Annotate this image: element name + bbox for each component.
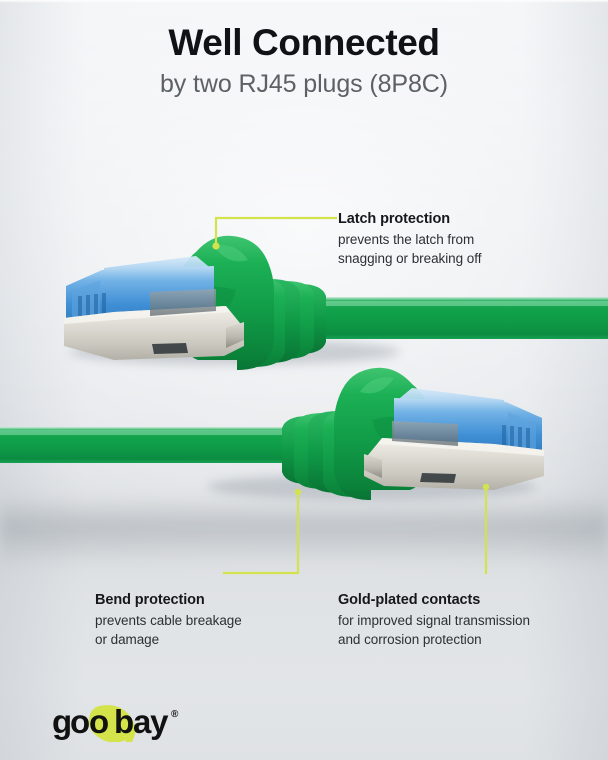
callout-latch-line-1: prevents the latch from	[338, 230, 481, 249]
header: Well Connected by two RJ45 plugs (8P8C)	[0, 22, 608, 99]
callout-gold-plated-contacts: Gold-plated contacts for improved signal…	[338, 591, 530, 649]
callout-bend-line-2: or damage	[95, 630, 242, 649]
callout-bend-title: Bend protection	[95, 591, 242, 609]
callout-bend-line-1: prevents cable breakage	[95, 611, 242, 630]
svg-text:g: g	[52, 703, 71, 740]
callout-gold-line-1: for improved signal transmission	[338, 611, 530, 630]
callout-gold-title: Gold-plated contacts	[338, 591, 530, 609]
background-top-highlight	[0, 0, 608, 3]
goobay-logo: g oo bay ®	[52, 702, 202, 742]
page-subtitle: by two RJ45 plugs (8P8C)	[0, 69, 608, 99]
svg-text:®: ®	[171, 709, 179, 720]
callout-latch-title: Latch protection	[338, 210, 481, 228]
svg-text:oo: oo	[70, 703, 108, 740]
callout-latch-line-2: snagging or breaking off	[338, 249, 481, 268]
infographic-poster: Well Connected by two RJ45 plugs (8P8C)	[0, 0, 608, 760]
callout-bend-protection: Bend protection prevents cable breakage …	[95, 591, 242, 649]
background-shadow-band	[0, 496, 608, 566]
page-title: Well Connected	[0, 22, 608, 63]
callout-gold-line-2: and corrosion protection	[338, 630, 530, 649]
callout-latch-protection: Latch protection prevents the latch from…	[338, 210, 481, 268]
svg-text:bay: bay	[114, 703, 169, 740]
logo-wordmark: g oo bay ®	[52, 703, 179, 740]
